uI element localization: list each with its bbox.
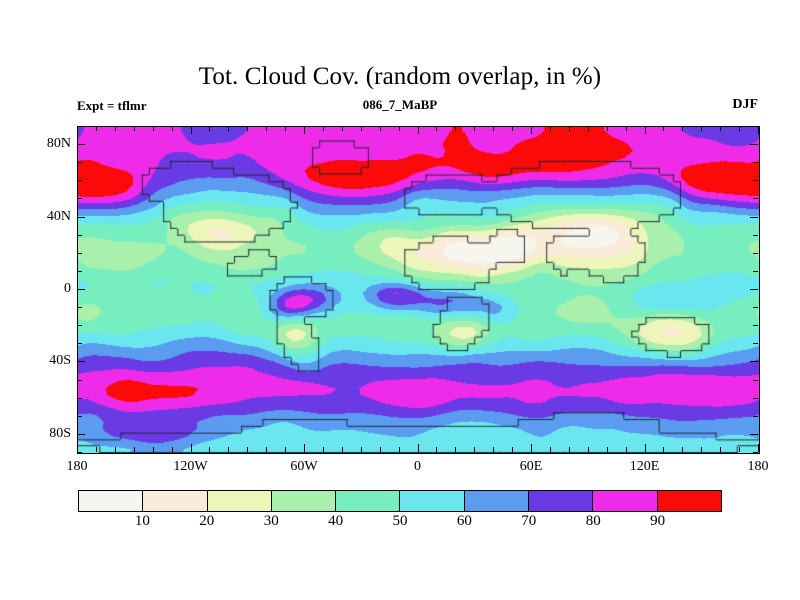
colorbar-tick-30: 30 bbox=[264, 512, 279, 530]
colorbar-tick-50: 50 bbox=[393, 512, 408, 530]
x-tick-bottom bbox=[361, 447, 362, 452]
x-tick-top bbox=[153, 126, 154, 131]
x-tick-top bbox=[96, 126, 97, 131]
y-tick-left bbox=[77, 162, 82, 163]
x-tick-top bbox=[266, 126, 267, 131]
y-tick-right bbox=[753, 162, 758, 163]
colorbar-band-90-100 bbox=[657, 491, 721, 511]
x-tick-label-60E-4: 60E bbox=[520, 459, 543, 475]
x-tick-label-180-6: 180 bbox=[748, 459, 769, 475]
y-tick-right bbox=[753, 307, 758, 308]
x-tick-top bbox=[663, 126, 664, 131]
x-tick-top bbox=[285, 126, 286, 131]
colorbar-band-80-90 bbox=[592, 491, 656, 511]
x-tick-top bbox=[77, 126, 78, 134]
x-tick-top bbox=[342, 126, 343, 131]
x-tick-top bbox=[493, 126, 494, 131]
x-tick-top bbox=[209, 126, 210, 131]
x-axis-labels: 180120W60W060E120E180 bbox=[77, 459, 758, 479]
y-tick-left bbox=[77, 416, 82, 417]
x-tick-bottom bbox=[550, 447, 551, 452]
colorbar-tick-10: 10 bbox=[135, 512, 150, 530]
y-tick-left bbox=[77, 380, 82, 381]
x-tick-label-60W-2: 60W bbox=[290, 459, 317, 475]
colorbar-band-50-60 bbox=[399, 491, 463, 511]
y-tick-right bbox=[753, 380, 758, 381]
colorbar-tick-90: 90 bbox=[650, 512, 665, 530]
y-tick-label-40N: 40N bbox=[23, 210, 71, 224]
x-tick-top bbox=[399, 126, 400, 131]
contour-map-canvas bbox=[78, 127, 759, 453]
x-tick-top bbox=[531, 126, 532, 134]
x-tick-bottom bbox=[399, 447, 400, 452]
y-tick-right bbox=[750, 217, 758, 218]
y-tick-right bbox=[753, 271, 758, 272]
x-tick-top bbox=[626, 126, 627, 131]
x-tick-top bbox=[436, 126, 437, 131]
y-tick-left bbox=[77, 271, 82, 272]
x-tick-top bbox=[758, 126, 759, 134]
x-tick-bottom bbox=[115, 447, 116, 452]
x-tick-label-0-3: 0 bbox=[414, 459, 421, 475]
x-tick-bottom bbox=[474, 447, 475, 452]
y-tick-left bbox=[77, 343, 82, 344]
x-tick-top bbox=[418, 126, 419, 134]
x-tick-bottom bbox=[191, 444, 192, 452]
x-tick-top bbox=[701, 126, 702, 131]
y-tick-right bbox=[753, 343, 758, 344]
x-tick-top bbox=[474, 126, 475, 131]
y-tick-right bbox=[750, 289, 758, 290]
x-tick-bottom bbox=[77, 444, 78, 452]
colorbar-band-20-30 bbox=[207, 491, 271, 511]
season-label: DJF bbox=[712, 97, 758, 113]
x-tick-top bbox=[569, 126, 570, 131]
x-tick-top bbox=[739, 126, 740, 131]
x-tick-top bbox=[607, 126, 608, 131]
x-tick-bottom bbox=[739, 447, 740, 452]
x-tick-bottom bbox=[607, 447, 608, 452]
x-tick-bottom bbox=[720, 447, 721, 452]
x-tick-top bbox=[588, 126, 589, 131]
x-tick-top bbox=[512, 126, 513, 131]
colorbar-tick-labels: 102030405060708090 bbox=[78, 512, 722, 532]
x-tick-top bbox=[455, 126, 456, 131]
colorbar-band-40-50 bbox=[335, 491, 399, 511]
x-tick-bottom bbox=[569, 447, 570, 452]
x-tick-label-180-0: 180 bbox=[67, 459, 88, 475]
y-tick-right bbox=[753, 416, 758, 417]
y-tick-left bbox=[77, 198, 82, 199]
x-tick-bottom bbox=[512, 447, 513, 452]
x-tick-top bbox=[172, 126, 173, 131]
y-tick-right bbox=[753, 198, 758, 199]
y-tick-right bbox=[753, 180, 758, 181]
x-tick-bottom bbox=[153, 447, 154, 452]
y-tick-right bbox=[753, 126, 758, 127]
y-tick-left bbox=[77, 452, 82, 453]
colorbar-tick-70: 70 bbox=[521, 512, 536, 530]
x-tick-bottom bbox=[701, 447, 702, 452]
x-tick-top bbox=[720, 126, 721, 131]
colorbar-band-60-70 bbox=[464, 491, 528, 511]
x-tick-bottom bbox=[266, 447, 267, 452]
experiment-label: Expt = tflmr bbox=[77, 98, 147, 114]
y-tick-left bbox=[77, 253, 82, 254]
x-tick-bottom bbox=[531, 444, 532, 452]
colorbar-band-70-80 bbox=[528, 491, 592, 511]
y-tick-left bbox=[77, 144, 85, 145]
x-tick-bottom bbox=[285, 447, 286, 452]
x-tick-bottom bbox=[436, 447, 437, 452]
colorbar-tick-60: 60 bbox=[457, 512, 472, 530]
x-tick-label-120W-1: 120W bbox=[173, 459, 207, 475]
x-tick-label-120E-5: 120E bbox=[630, 459, 660, 475]
y-tick-left bbox=[77, 180, 82, 181]
y-tick-label-80S: 80S bbox=[23, 427, 71, 441]
colorbar-bands bbox=[78, 490, 722, 512]
x-tick-top bbox=[682, 126, 683, 131]
y-tick-right bbox=[750, 361, 758, 362]
y-tick-label-40S: 40S bbox=[23, 354, 71, 368]
colorbar-band-0-10 bbox=[79, 491, 142, 511]
colorbar-tick-40: 40 bbox=[328, 512, 343, 530]
y-tick-right bbox=[750, 144, 758, 145]
x-tick-top bbox=[247, 126, 248, 131]
y-tick-left bbox=[77, 307, 82, 308]
x-tick-bottom bbox=[209, 447, 210, 452]
colorbar bbox=[78, 490, 722, 512]
y-tick-left bbox=[77, 235, 82, 236]
x-tick-top bbox=[361, 126, 362, 131]
x-tick-bottom bbox=[626, 447, 627, 452]
x-tick-bottom bbox=[304, 444, 305, 452]
y-tick-right bbox=[753, 235, 758, 236]
x-tick-bottom bbox=[758, 444, 759, 452]
y-tick-left bbox=[77, 361, 85, 362]
y-tick-left bbox=[77, 434, 85, 435]
y-tick-right bbox=[753, 253, 758, 254]
figure-container: Tot. Cloud Cov. (random overlap, in %) 0… bbox=[0, 0, 800, 600]
y-tick-right bbox=[753, 452, 758, 453]
y-tick-left bbox=[77, 398, 82, 399]
x-tick-bottom bbox=[228, 447, 229, 452]
colorbar-band-10-20 bbox=[142, 491, 206, 511]
y-tick-left bbox=[77, 325, 82, 326]
x-tick-bottom bbox=[96, 447, 97, 452]
x-tick-top bbox=[323, 126, 324, 131]
x-tick-top bbox=[228, 126, 229, 131]
x-tick-bottom bbox=[247, 447, 248, 452]
y-tick-label-0: 0 bbox=[23, 282, 71, 296]
colorbar-tick-20: 20 bbox=[199, 512, 214, 530]
y-tick-left bbox=[77, 126, 82, 127]
x-tick-top bbox=[191, 126, 192, 134]
map-plot-area bbox=[77, 126, 760, 454]
y-tick-left bbox=[77, 217, 85, 218]
x-tick-bottom bbox=[682, 447, 683, 452]
colorbar-tick-80: 80 bbox=[586, 512, 601, 530]
x-tick-bottom bbox=[134, 447, 135, 452]
x-tick-bottom bbox=[323, 447, 324, 452]
x-tick-top bbox=[134, 126, 135, 131]
x-tick-bottom bbox=[342, 447, 343, 452]
x-tick-bottom bbox=[493, 447, 494, 452]
y-axis-labels: 80N40N040S80S bbox=[19, 126, 71, 452]
x-tick-bottom bbox=[663, 447, 664, 452]
y-tick-left bbox=[77, 289, 85, 290]
x-tick-bottom bbox=[418, 444, 419, 452]
x-tick-top bbox=[645, 126, 646, 134]
x-tick-top bbox=[115, 126, 116, 131]
x-tick-top bbox=[380, 126, 381, 131]
y-tick-right bbox=[750, 434, 758, 435]
y-tick-label-80N: 80N bbox=[23, 137, 71, 151]
x-tick-top bbox=[304, 126, 305, 134]
x-tick-bottom bbox=[645, 444, 646, 452]
x-tick-bottom bbox=[588, 447, 589, 452]
x-tick-bottom bbox=[172, 447, 173, 452]
y-tick-right bbox=[753, 398, 758, 399]
x-tick-bottom bbox=[380, 447, 381, 452]
x-tick-top bbox=[550, 126, 551, 131]
x-tick-bottom bbox=[455, 447, 456, 452]
y-tick-right bbox=[753, 325, 758, 326]
colorbar-band-30-40 bbox=[271, 491, 335, 511]
page-title: Tot. Cloud Cov. (random overlap, in %) bbox=[0, 62, 800, 92]
